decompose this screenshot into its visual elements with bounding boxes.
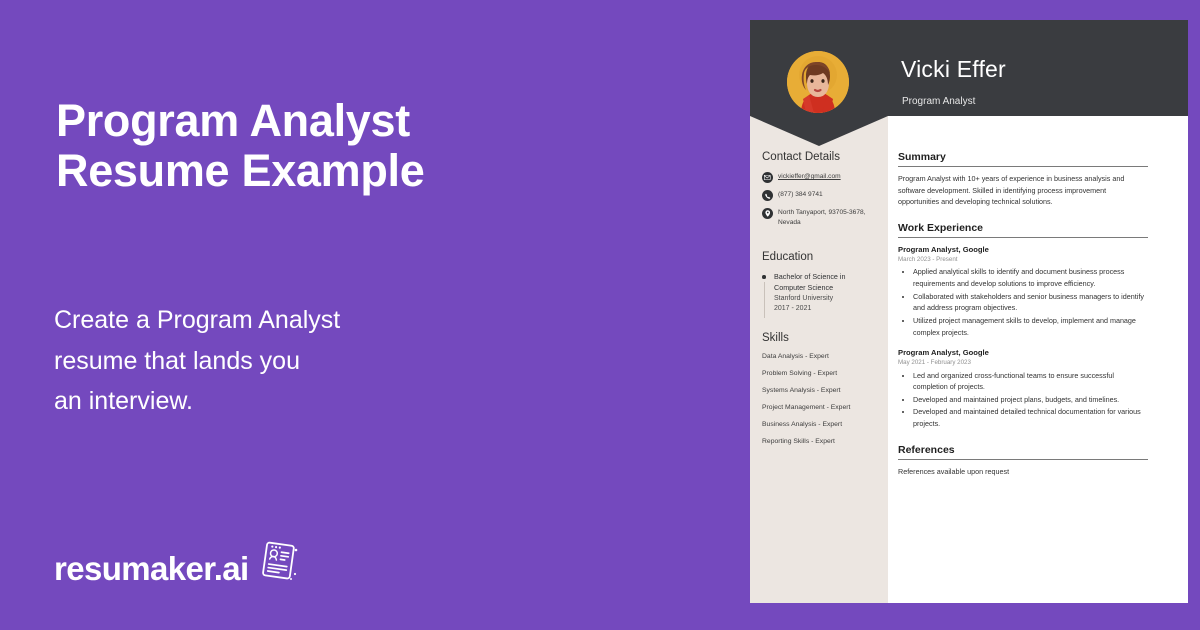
education-years: 2017 - 2021 bbox=[774, 304, 878, 315]
education-school: Stanford University bbox=[774, 294, 878, 305]
skill-item: Reporting Skills - Expert bbox=[762, 438, 878, 445]
job-bullet-list: Led and organized cross-functional teams… bbox=[898, 370, 1148, 430]
contact-phone-value: (877) 384 9741 bbox=[778, 190, 823, 200]
resume-preview-card[interactable]: Vicki Effer Program Analyst Contact Deta… bbox=[750, 20, 1188, 603]
promo-subheadline: Create a Program Analyst resume that lan… bbox=[54, 300, 574, 422]
references-text: References available upon request bbox=[898, 466, 1148, 478]
job-entry: Program Analyst, Google May 2021 - Febru… bbox=[898, 347, 1148, 430]
job-bullet: Developed and maintained detailed techni… bbox=[913, 406, 1148, 429]
resume-sidebar-content: Contact Details vickieffer@gmail.com (87… bbox=[762, 151, 878, 455]
contact-details-heading: Contact Details bbox=[762, 151, 878, 163]
job-bullet: Utilized project management skills to de… bbox=[913, 315, 1148, 338]
resume-document-icon bbox=[256, 538, 300, 587]
resume-candidate-title: Program Analyst bbox=[902, 96, 975, 107]
education-degree: Bachelor of Science in Computer Science bbox=[774, 272, 878, 294]
bullet-icon bbox=[762, 275, 766, 279]
summary-heading: Summary bbox=[898, 151, 1148, 167]
resume-candidate-name: Vicki Effer bbox=[901, 56, 1006, 83]
avatar bbox=[787, 51, 849, 113]
education-heading: Education bbox=[762, 251, 878, 263]
skill-item: Project Management - Expert bbox=[762, 404, 878, 411]
summary-section: Summary Program Analyst with 10+ years o… bbox=[898, 151, 1148, 208]
references-heading: References bbox=[898, 444, 1148, 460]
promo-panel: Program Analyst Resume Example Create a … bbox=[0, 0, 740, 630]
job-bullet-list: Applied analytical skills to identify an… bbox=[898, 266, 1148, 338]
promo-banner: Program Analyst Resume Example Create a … bbox=[0, 0, 1200, 630]
envelope-icon bbox=[762, 172, 773, 183]
contact-email-value: vickieffer@gmail.com bbox=[778, 172, 841, 182]
page-title: Program Analyst Resume Example bbox=[56, 96, 696, 197]
contact-row-phone[interactable]: (877) 384 9741 bbox=[762, 190, 878, 201]
phone-icon bbox=[762, 190, 773, 201]
work-experience-heading: Work Experience bbox=[898, 222, 1148, 238]
job-title: Program Analyst, Google bbox=[898, 347, 1148, 358]
job-dates: May 2021 - February 2023 bbox=[898, 358, 1148, 367]
brand-name: resumaker.ai bbox=[54, 552, 249, 585]
skill-item: Problem Solving - Expert bbox=[762, 370, 878, 377]
timeline-line bbox=[764, 282, 765, 318]
brand-logo[interactable]: resumaker.ai bbox=[54, 550, 300, 587]
resume-main-content: Summary Program Analyst with 10+ years o… bbox=[898, 151, 1148, 491]
job-bullet: Led and organized cross-functional teams… bbox=[913, 370, 1148, 393]
skill-item: Data Analysis - Expert bbox=[762, 353, 878, 360]
skill-item: Systems Analysis - Expert bbox=[762, 387, 878, 394]
contact-address-value: North Tanyaport, 93705-3678, Nevada bbox=[778, 208, 878, 227]
summary-text: Program Analyst with 10+ years of experi… bbox=[898, 173, 1148, 208]
job-bullet: Collaborated with stakeholders and senio… bbox=[913, 291, 1148, 314]
contact-row-address[interactable]: North Tanyaport, 93705-3678, Nevada bbox=[762, 208, 878, 227]
sidebar-spacer-2 bbox=[762, 315, 878, 332]
references-section: References References available upon req… bbox=[898, 444, 1148, 478]
job-dates: March 2023 - Present bbox=[898, 255, 1148, 264]
contact-row-email[interactable]: vickieffer@gmail.com bbox=[762, 172, 878, 183]
skill-item: Business Analysis - Expert bbox=[762, 421, 878, 428]
location-pin-icon bbox=[762, 208, 773, 219]
work-experience-section: Work Experience Program Analyst, Google … bbox=[898, 222, 1148, 430]
sidebar-spacer-1 bbox=[762, 234, 878, 251]
education-item: Bachelor of Science in Computer Science … bbox=[762, 272, 878, 315]
job-title: Program Analyst, Google bbox=[898, 244, 1148, 255]
job-entry: Program Analyst, Google March 2023 - Pre… bbox=[898, 244, 1148, 338]
skills-heading: Skills bbox=[762, 332, 878, 344]
job-bullet: Applied analytical skills to identify an… bbox=[913, 266, 1148, 289]
job-bullet: Developed and maintained project plans, … bbox=[913, 394, 1148, 406]
